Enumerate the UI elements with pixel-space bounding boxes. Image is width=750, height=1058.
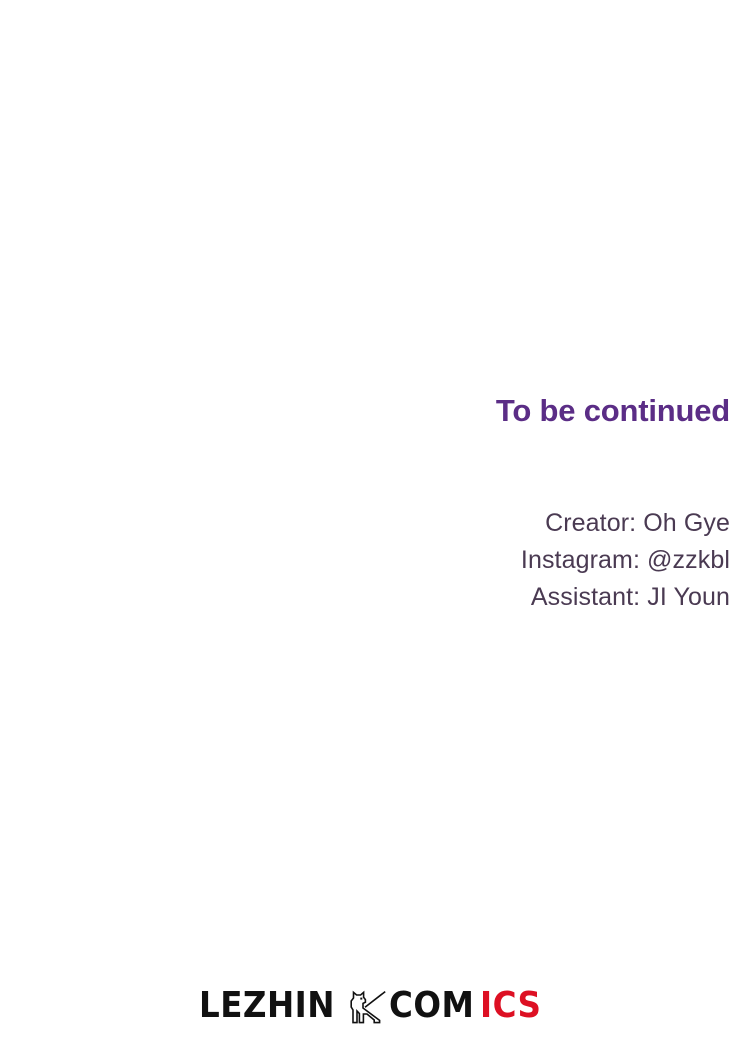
credit-line-creator: Creator: Oh Gye xyxy=(0,505,730,542)
comic-end-page: To be continued Creator: Oh Gye Instagra… xyxy=(0,0,750,1058)
lezhin-dog-icon xyxy=(348,989,388,1025)
to-be-continued-text: To be continued xyxy=(0,391,730,431)
logo-inner: LEZHIN COM ICS xyxy=(199,988,546,1024)
lezhin-comics-logo[interactable]: LEZHIN COM ICS xyxy=(0,988,750,1024)
credit-line-assistant: Assistant: JI Youn xyxy=(0,579,730,616)
credits-block: Creator: Oh Gye Instagram: @zzkbl Assist… xyxy=(0,505,730,616)
logo-wordmark-lezhin: LEZHIN xyxy=(199,987,335,1024)
logo-wordmark-com: COM xyxy=(389,987,474,1024)
logo-wordmark-ics: ICS xyxy=(480,987,541,1024)
credit-line-instagram: Instagram: @zzkbl xyxy=(0,542,730,579)
